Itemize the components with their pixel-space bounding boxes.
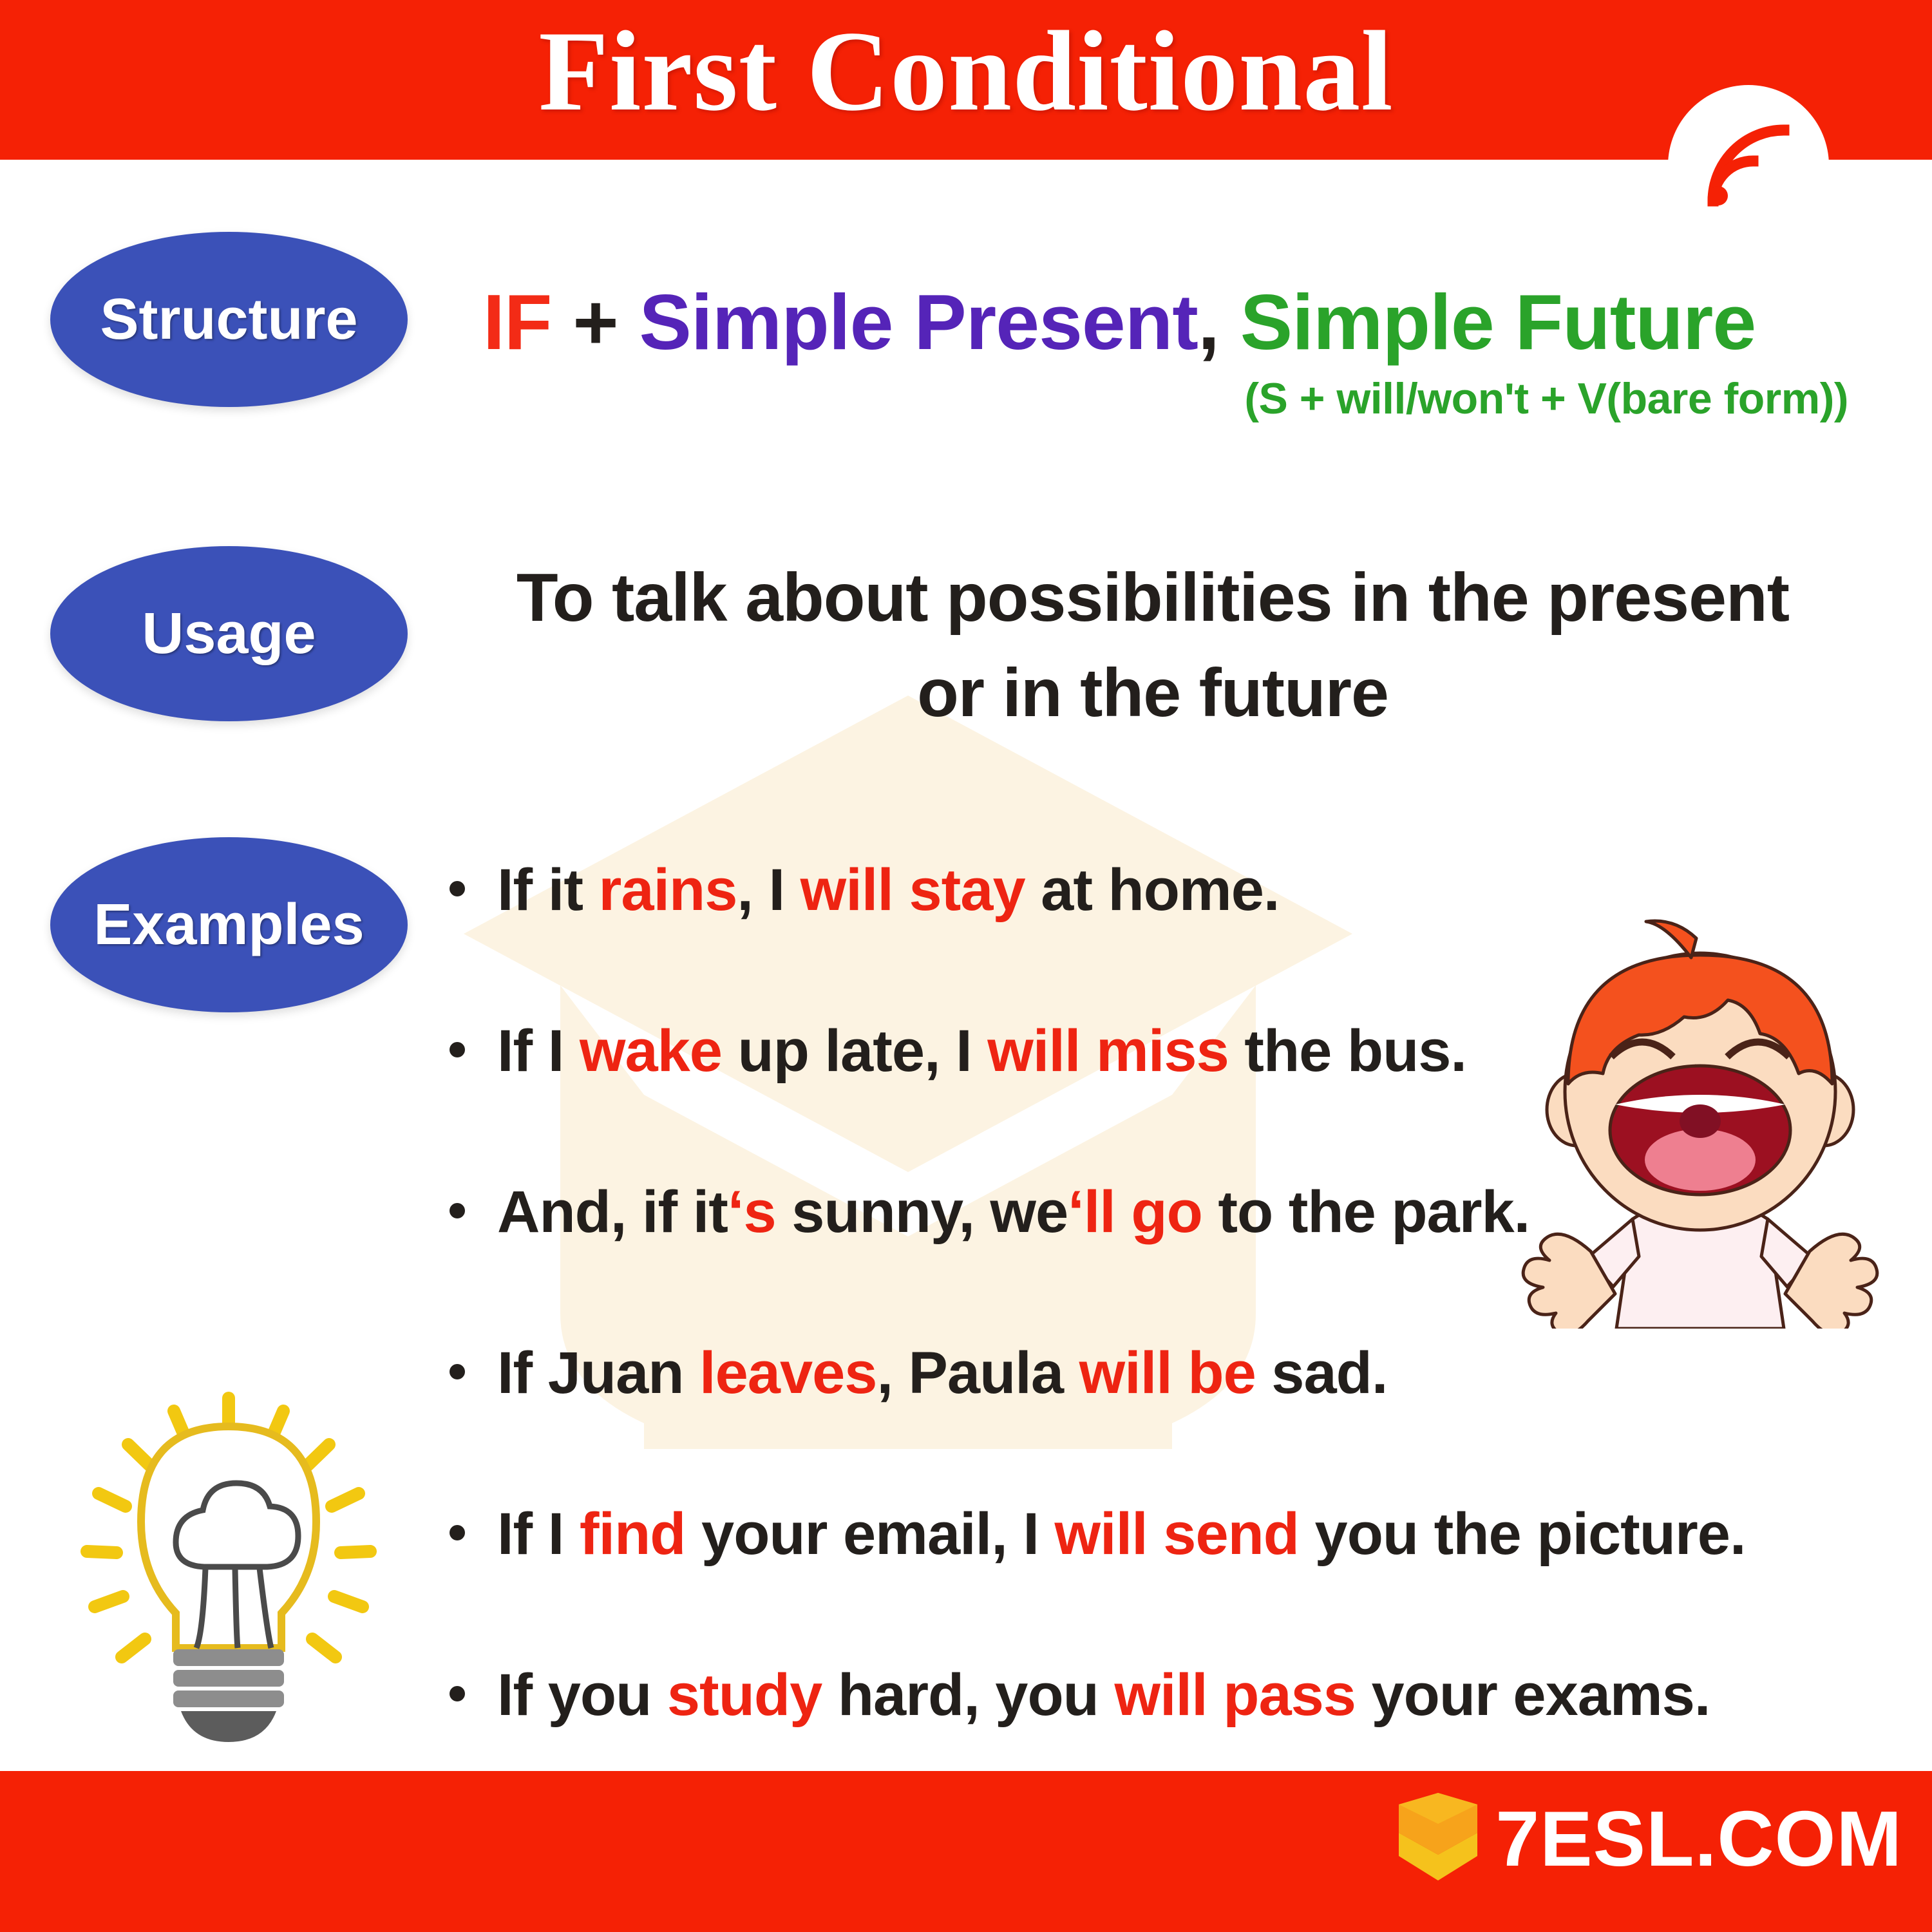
- example-text: If you: [497, 1662, 667, 1728]
- example-text: If it: [497, 857, 599, 923]
- example-item: If you study hard, you will pass your ex…: [444, 1660, 1893, 1730]
- example-text: your exams.: [1356, 1662, 1710, 1728]
- pill-label-usage: Usage: [142, 601, 316, 667]
- usage-description: To talk about possibilities in the prese…: [451, 550, 1855, 741]
- structure-formula: IF + Simple Present, Simple Future: [483, 277, 1848, 367]
- example-text: hard, you: [822, 1662, 1114, 1728]
- example-text: you the picture.: [1299, 1501, 1746, 1567]
- header-bar: First Conditional: [0, 0, 1932, 160]
- example-highlight: rains: [599, 857, 737, 923]
- bullet-icon: [450, 1686, 465, 1701]
- example-text: sad.: [1256, 1340, 1388, 1406]
- bullet-icon: [450, 1042, 465, 1057]
- example-item: If I find your email, I will send you th…: [444, 1499, 1893, 1569]
- laughing-child-illustration: [1501, 916, 1900, 1329]
- example-highlight: ‘ll go: [1068, 1179, 1202, 1245]
- example-text: up late, I: [722, 1018, 987, 1084]
- formula-simple-future: Simple Future: [1240, 278, 1756, 366]
- section-pill-structure: Structure: [50, 232, 408, 407]
- usage-line-1: To talk about possibilities in the prese…: [451, 550, 1855, 645]
- example-highlight: leaves: [699, 1340, 876, 1406]
- example-highlight: will be: [1079, 1340, 1256, 1406]
- example-highlight: will miss: [987, 1018, 1229, 1084]
- idea-lightbulb-illustration: [61, 1387, 396, 1747]
- footer-bar: 7ESL.COM: [0, 1771, 1932, 1932]
- site-logo-text: 7ESL.COM: [1495, 1794, 1902, 1884]
- example-text: , Paula: [876, 1340, 1079, 1406]
- example-text: If I: [497, 1018, 580, 1084]
- bullet-icon: [450, 1364, 465, 1379]
- chevron-logo-icon: [1392, 1793, 1484, 1884]
- bullet-icon: [450, 1203, 465, 1218]
- example-highlight: will stay: [800, 857, 1025, 923]
- section-pill-usage: Usage: [50, 546, 408, 721]
- example-text: your email, I: [685, 1501, 1054, 1567]
- formula-simple-present: Simple Present: [639, 278, 1197, 366]
- example-text: And, if it: [497, 1179, 728, 1245]
- example-highlight: will send: [1054, 1501, 1299, 1567]
- example-text: If I: [497, 1501, 580, 1567]
- example-highlight: ‘s: [728, 1179, 776, 1245]
- structure-sub-formula: (S + will/won't + V(bare form)): [483, 374, 1848, 424]
- site-logo[interactable]: 7ESL.COM: [1392, 1793, 1902, 1884]
- bullet-icon: [450, 881, 465, 896]
- example-text: , I: [737, 857, 800, 923]
- example-text: If Juan: [497, 1340, 699, 1406]
- formula-plus: +: [551, 278, 639, 366]
- example-item: If Juan leaves, Paula will be sad.: [444, 1338, 1893, 1408]
- example-highlight: find: [580, 1501, 686, 1567]
- pill-label-examples: Examples: [93, 892, 364, 958]
- example-text: sunny, we: [776, 1179, 1068, 1245]
- bullet-icon: [450, 1525, 465, 1540]
- example-highlight: wake: [580, 1018, 722, 1084]
- page-title: First Conditional: [0, 6, 1932, 135]
- rss-signal-icon: [1668, 85, 1829, 246]
- infographic-poster: First Conditional Structure IF + Simple …: [0, 0, 1932, 1932]
- poster-body: Structure IF + Simple Present, Simple Fu…: [0, 160, 1932, 1771]
- example-text: the bus.: [1229, 1018, 1466, 1084]
- formula-comma: ,: [1198, 278, 1240, 366]
- section-pill-examples: Examples: [50, 837, 408, 1012]
- formula-if: IF: [483, 278, 551, 366]
- example-highlight: study: [667, 1662, 822, 1728]
- example-text: to the park.: [1202, 1179, 1529, 1245]
- usage-line-2: or in the future: [451, 645, 1855, 741]
- example-highlight: will pass: [1114, 1662, 1356, 1728]
- example-item: If it rains, I will stay at home.: [444, 855, 1893, 925]
- pill-label-structure: Structure: [100, 287, 357, 353]
- example-text: at home.: [1025, 857, 1280, 923]
